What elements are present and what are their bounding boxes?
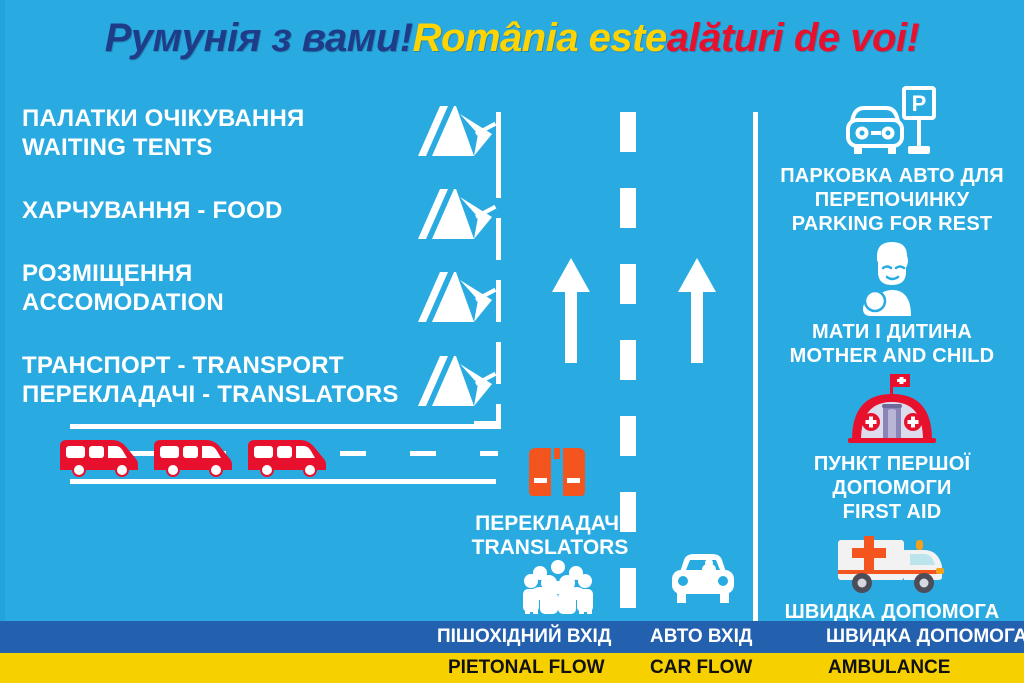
service-label-en: WAITING TENTS <box>22 133 442 162</box>
ambulance-icon <box>760 526 1024 596</box>
poster-canvas: Румунія з вами! România este alături de … <box>0 0 1024 683</box>
title-romanian-yellow: România este <box>413 18 667 58</box>
facility-label-ua-line2: ПЕРЕПОЧИНКУ <box>760 188 1024 212</box>
tent-icon-column <box>416 104 504 435</box>
services-list: ПАЛАТКИ ОЧІКУВАННЯ WAITING TENTS ХАРЧУВА… <box>22 104 442 431</box>
parking-sign-icon: P <box>760 86 1024 160</box>
facility-item-ambulance: ШВИДКА ДОПОМОГА <box>760 526 1024 624</box>
arrow-up-icon <box>678 258 716 368</box>
translators-label: ПЕРЕКЛАДАЧІ TRANSLATORS <box>470 512 630 560</box>
title-ukrainian: Румунія з вами! <box>105 18 413 58</box>
facility-item-first-aid: ПУНКТ ПЕРШОЇ ДОПОМОГИ FIRST AID <box>760 370 1024 524</box>
bottom-bar-blue: ПІШОХІДНИЙ ВХІД АВТО ВХІД ШВИДКА ДОПОМОГ… <box>0 621 1024 653</box>
tent-icon <box>416 270 504 351</box>
entry-label-pedestrian-ua: ПІШОХІДНИЙ ВХІД <box>437 621 611 653</box>
bus-icon <box>152 430 234 478</box>
service-label-ua: РОЗМІЩЕННЯ <box>22 259 442 288</box>
service-item-accomodation: РОЗМІЩЕННЯ ACCOMODATION <box>22 259 442 317</box>
arrow-up-icon <box>552 258 590 368</box>
facility-item-mother-child: МАТИ І ДИТИНА MOTHER AND CHILD <box>760 238 1024 368</box>
entry-label-ambulance-ua: ШВИДКА ДОПОМОГА <box>826 621 1024 653</box>
facility-label-ua-line1: ПАРКОВКА АВТО ДЛЯ <box>760 164 1024 188</box>
service-label-en: ПЕРЕКЛАДАЧІ - TRANSLATORS <box>22 380 442 409</box>
safety-vest-icon <box>525 448 589 503</box>
road-line-bottom <box>70 479 496 484</box>
translators-label-en: TRANSLATORS <box>470 536 630 560</box>
service-label-ua: ХАРЧУВАННЯ - FOOD <box>22 196 442 225</box>
facilities-list: P ПАРКОВКА АВТО ДЛЯ ПЕРЕПОЧИНКУ PARKING … <box>760 86 1024 626</box>
facility-label-ua: МАТИ І ДИТИНА <box>760 320 1024 344</box>
translators-label-ua: ПЕРЕКЛАДАЧІ <box>470 512 630 536</box>
first-aid-tent-icon <box>760 370 1024 448</box>
svg-text:P: P <box>912 91 927 116</box>
pedestrian-lane-corner-horizontal <box>474 421 501 426</box>
bottom-bar-yellow: PIETONAL FLOW CAR FLOW AMBULANCE <box>0 653 1024 683</box>
service-label-ua: ПАЛАТКИ ОЧІКУВАННЯ <box>22 104 442 133</box>
people-group-icon <box>518 560 598 619</box>
facility-label-ua: ПУНКТ ПЕРШОЇ ДОПОМОГИ <box>760 452 1024 500</box>
road-right-solid-line <box>753 112 758 621</box>
service-label-ua: ТРАНСПОРТ - TRANSPORT <box>22 351 442 380</box>
service-label-en: ACCOMODATION <box>22 288 442 317</box>
pedestrian-lane-dashed-line <box>496 112 501 412</box>
entry-label-car-en: CAR FLOW <box>650 653 752 683</box>
left-edge-strip <box>0 0 5 621</box>
facility-label-en: MOTHER AND CHILD <box>760 344 1024 368</box>
facility-label-first-aid: ПУНКТ ПЕРШОЇ ДОПОМОГИ FIRST AID <box>760 452 1024 524</box>
road-line-top <box>70 424 496 429</box>
bus-row <box>58 430 328 478</box>
service-item-food: ХАРЧУВАННЯ - FOOD <box>22 196 442 225</box>
facility-label-parking: ПАРКОВКА АВТО ДЛЯ ПЕРЕПОЧИНКУ PARKING FO… <box>760 164 1024 236</box>
bus-icon <box>246 430 328 478</box>
entry-label-pedestrian-en: PIETONAL FLOW <box>448 653 605 683</box>
facility-label-en: FIRST AID <box>760 500 1024 524</box>
car-front-icon <box>668 552 738 612</box>
facility-item-parking: P ПАРКОВКА АВТО ДЛЯ ПЕРЕПОЧИНКУ PARKING … <box>760 86 1024 236</box>
facility-label-en: PARKING FOR REST <box>760 212 1024 236</box>
poster-title: Румунія з вами! România este alături de … <box>0 14 1024 62</box>
mother-and-child-icon <box>760 238 1024 316</box>
entry-label-ambulance-en: AMBULANCE <box>828 653 950 683</box>
tent-icon <box>416 187 504 268</box>
entry-label-car-ua: АВТО ВХІД <box>650 621 752 653</box>
service-item-waiting-tents: ПАЛАТКИ ОЧІКУВАННЯ WAITING TENTS <box>22 104 442 162</box>
bus-icon <box>58 430 140 478</box>
service-item-transport-translators: ТРАНСПОРТ - TRANSPORT ПЕРЕКЛАДАЧІ - TRAN… <box>22 351 442 409</box>
facility-label-mother-child: МАТИ І ДИТИНА MOTHER AND CHILD <box>760 320 1024 368</box>
title-romanian-red: alături de voi! <box>667 18 920 58</box>
tent-icon <box>416 104 504 185</box>
